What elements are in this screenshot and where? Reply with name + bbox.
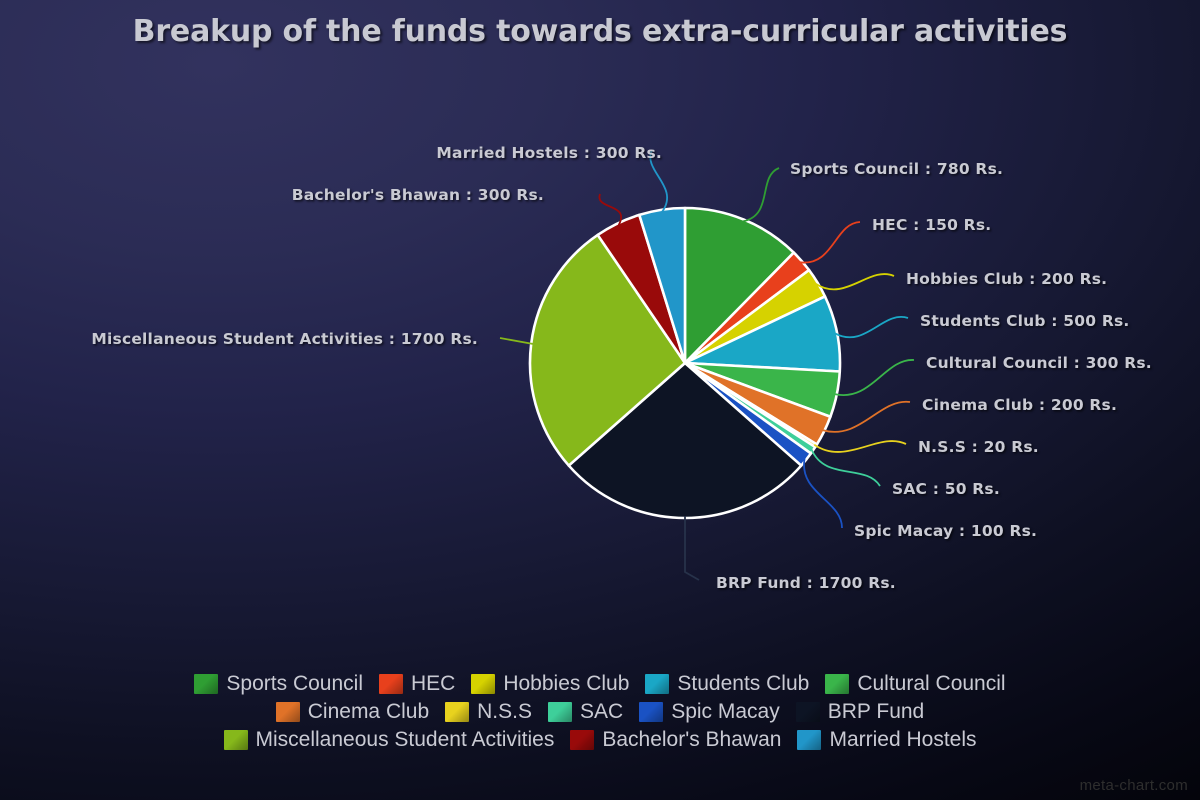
legend-swatch: [445, 702, 469, 722]
legend-item[interactable]: Sports Council: [194, 672, 363, 696]
leader-line: [823, 402, 911, 432]
callout-students-club: Students Club : 500 Rs.: [920, 312, 1130, 330]
leader-line: [599, 194, 621, 225]
legend-swatch: [639, 702, 663, 722]
legend-swatch: [548, 702, 572, 722]
leader-line: [835, 360, 914, 395]
legend-item-label: Cultural Council: [857, 672, 1005, 696]
legend-item-label: Bachelor's Bhawan: [602, 728, 781, 752]
legend-swatch: [224, 730, 248, 750]
leader-line: [500, 338, 533, 344]
legend-item-label: Married Hostels: [829, 728, 976, 752]
legend-row: Sports CouncilHECHobbies ClubStudents Cl…: [194, 672, 1005, 696]
legend-item-label: Students Club: [677, 672, 809, 696]
legend-item-label: Spic Macay: [671, 700, 780, 724]
legend-swatch: [796, 702, 820, 722]
callout-misc-student-activities: Miscellaneous Student Activities : 1700 …: [26, 330, 478, 348]
callout-hec: HEC : 150 Rs.: [872, 216, 991, 234]
leader-line: [743, 168, 779, 221]
legend-item[interactable]: Miscellaneous Student Activities: [224, 728, 555, 752]
legend-item-label: Miscellaneous Student Activities: [256, 728, 555, 752]
callout-cinema-club: Cinema Club : 200 Rs.: [922, 396, 1117, 414]
legend-item-label: Cinema Club: [308, 700, 429, 724]
legend-item[interactable]: BRP Fund: [796, 700, 925, 724]
callout-cultural-council: Cultural Council : 300 Rs.: [926, 354, 1152, 372]
chart-page: Breakup of the funds towards extra-curri…: [0, 0, 1200, 800]
legend-item-label: N.S.S: [477, 700, 532, 724]
callout-bachelors-bhawan: Bachelor's Bhawan : 300 Rs.: [244, 186, 544, 204]
pie-slice-group: [530, 208, 840, 518]
legend-row: Cinema ClubN.S.SSACSpic MacayBRP Fund: [276, 700, 924, 724]
callout-spic-macay: Spic Macay : 100 Rs.: [854, 522, 1037, 540]
legend-item[interactable]: Bachelor's Bhawan: [570, 728, 781, 752]
legend-item-label: SAC: [580, 700, 623, 724]
legend-item[interactable]: HEC: [379, 672, 455, 696]
callout-brp-fund: BRP Fund : 1700 Rs.: [716, 574, 896, 592]
legend-swatch: [379, 674, 403, 694]
leader-line: [814, 441, 906, 452]
watermark: meta-chart.com: [1080, 777, 1188, 794]
legend-item[interactable]: Students Club: [645, 672, 809, 696]
legend-item[interactable]: N.S.S: [445, 700, 532, 724]
leader-line: [811, 449, 880, 486]
callout-married-hostels: Married Hostels : 300 Rs.: [372, 144, 662, 162]
legend-item-label: Sports Council: [226, 672, 363, 696]
legend-item[interactable]: Hobbies Club: [471, 672, 629, 696]
legend-swatch: [194, 674, 218, 694]
callout-sports-council: Sports Council : 780 Rs.: [790, 160, 1003, 178]
legend-item[interactable]: Spic Macay: [639, 700, 780, 724]
legend-swatch: [825, 674, 849, 694]
legend-swatch: [645, 674, 669, 694]
legend-item[interactable]: Cultural Council: [825, 672, 1005, 696]
legend-swatch: [276, 702, 300, 722]
legend-item[interactable]: Married Hostels: [797, 728, 976, 752]
leader-line: [816, 274, 894, 289]
legend-swatch: [570, 730, 594, 750]
legend-item-label: BRP Fund: [828, 700, 925, 724]
legend: Sports CouncilHECHobbies ClubStudents Cl…: [0, 672, 1200, 752]
legend-item[interactable]: SAC: [548, 700, 623, 724]
legend-item[interactable]: Cinema Club: [276, 700, 429, 724]
legend-swatch: [797, 730, 821, 750]
legend-swatch: [471, 674, 495, 694]
leader-line: [685, 516, 699, 580]
callout-nss: N.S.S : 20 Rs.: [918, 438, 1039, 456]
leader-line: [835, 317, 908, 337]
legend-row: Miscellaneous Student ActivitiesBachelor…: [224, 728, 977, 752]
leader-line: [800, 222, 860, 263]
legend-item-label: HEC: [411, 672, 455, 696]
callout-sac: SAC : 50 Rs.: [892, 480, 1000, 498]
legend-item-label: Hobbies Club: [503, 672, 629, 696]
callout-hobbies-club: Hobbies Club : 200 Rs.: [906, 270, 1107, 288]
